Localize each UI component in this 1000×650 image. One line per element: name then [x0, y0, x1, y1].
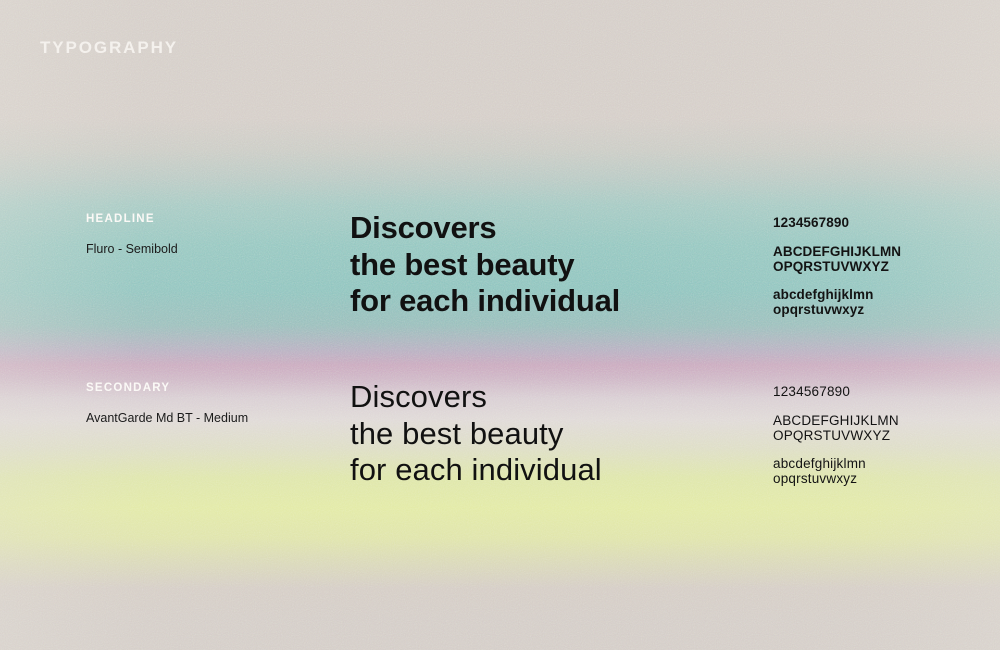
page-title: TYPOGRAPHY	[40, 38, 178, 58]
secondary-sample-text: Discovers the best beauty for each indiv…	[350, 379, 602, 489]
headline-label-block: HEADLINE Fluro - Semibold	[86, 213, 178, 256]
secondary-glyphs-lowercase: abcdefghijklmn opqrstuvwxyz	[773, 456, 899, 487]
secondary-glyphs-numerals: 1234567890	[773, 384, 899, 400]
headline-glyph-block: 1234567890 ABCDEFGHIJKLMN OPQRSTUVWXYZ a…	[773, 215, 901, 318]
headline-lowercase-line-2: opqrstuvwxyz	[773, 302, 901, 318]
secondary-glyphs-uppercase: ABCDEFGHIJKLMN OPQRSTUVWXYZ	[773, 413, 899, 444]
secondary-kicker: SECONDARY	[86, 382, 248, 394]
typography-specimen-board: TYPOGRAPHY HEADLINE Fluro - Semibold Dis…	[0, 0, 1000, 650]
secondary-glyph-block: 1234567890 ABCDEFGHIJKLMN OPQRSTUVWXYZ a…	[773, 384, 899, 487]
headline-sample-line-1: Discovers	[350, 210, 620, 247]
specimen-content: TYPOGRAPHY HEADLINE Fluro - Semibold Dis…	[0, 0, 1000, 650]
headline-sample-text: Discovers the best beauty for each indiv…	[350, 210, 620, 320]
headline-glyphs-lowercase: abcdefghijklmn opqrstuvwxyz	[773, 287, 901, 318]
headline-kicker: HEADLINE	[86, 213, 178, 225]
headline-glyphs-uppercase: ABCDEFGHIJKLMN OPQRSTUVWXYZ	[773, 244, 901, 275]
secondary-label-block: SECONDARY AvantGarde Md BT - Medium	[86, 382, 248, 425]
secondary-sample-line-1: Discovers	[350, 379, 602, 416]
secondary-sample-line-2: the best beauty	[350, 416, 602, 453]
headline-numerals-line: 1234567890	[773, 215, 901, 231]
headline-uppercase-line-1: ABCDEFGHIJKLMN	[773, 244, 901, 260]
secondary-numerals-line: 1234567890	[773, 384, 899, 400]
headline-font-name: Fluro - Semibold	[86, 242, 178, 256]
headline-sample-line-2: the best beauty	[350, 247, 620, 284]
headline-lowercase-line-1: abcdefghijklmn	[773, 287, 901, 303]
secondary-font-name: AvantGarde Md BT - Medium	[86, 411, 248, 425]
headline-uppercase-line-2: OPQRSTUVWXYZ	[773, 259, 901, 275]
secondary-uppercase-line-1: ABCDEFGHIJKLMN	[773, 413, 899, 429]
secondary-lowercase-line-2: opqrstuvwxyz	[773, 471, 899, 487]
secondary-lowercase-line-1: abcdefghijklmn	[773, 456, 899, 472]
secondary-uppercase-line-2: OPQRSTUVWXYZ	[773, 428, 899, 444]
headline-glyphs-numerals: 1234567890	[773, 215, 901, 231]
secondary-sample-line-3: for each individual	[350, 452, 602, 489]
headline-sample-line-3: for each individual	[350, 283, 620, 320]
